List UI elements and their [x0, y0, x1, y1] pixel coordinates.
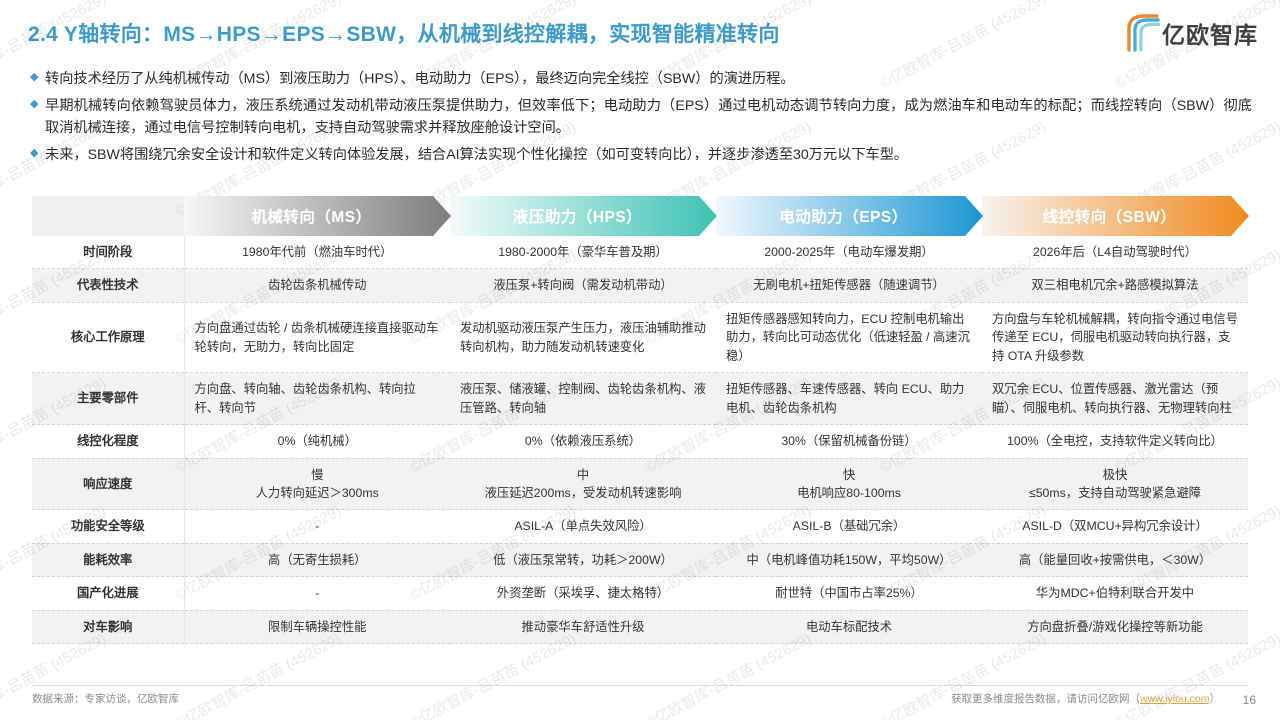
logo-mark-icon: [1126, 14, 1160, 52]
table-cell-line: 慢: [195, 466, 441, 484]
table-cell: ASIL-A（单点失效风险）: [450, 510, 716, 543]
table-row: 线控化程度0%（纯机械）0%（依赖液压系统）30%（保留机械备份链）100%（全…: [32, 425, 1248, 458]
table-row: 时间阶段1980年代前（燃油车时代）1980-2000年（豪华车普及期）2000…: [32, 236, 1248, 269]
table-cell: 快电机响应80-100ms: [716, 458, 982, 510]
table-cell: 高（能量回收+按需供电，＜30W）: [982, 543, 1248, 576]
table-header-label: 机械转向（MS）: [251, 205, 383, 227]
table-row: 对车影响限制车辆操控性能推动豪华车舒适性升级电动车标配技术方向盘折叠/游戏化操控…: [32, 610, 1248, 643]
table-cell: 1980-2000年（豪华车普及期）: [450, 236, 716, 269]
comparison-table: 机械转向（MS）液压助力（HPS）电动助力（EPS）线控转向（SBW） 时间阶段…: [32, 196, 1248, 644]
footer-cta: 获取更多维度报告数据，请访问亿欧网（www.iyiou.com）: [951, 691, 1220, 706]
table-cell: 2026年后（L4自动驾驶时代）: [982, 236, 1248, 269]
list-item: ◆ 未来，SBW将围绕冗余安全设计和软件定义转向体验发展，结合AI算法实现个性化…: [30, 144, 1252, 166]
table-cell: 外资垄断（采埃孚、捷太格特）: [450, 577, 716, 610]
table-row: 响应速度慢人力转向延迟＞300ms中液压延迟200ms，受发动机转速影响快电机响…: [32, 458, 1248, 510]
table-cell-line: 电机响应80-100ms: [726, 484, 972, 502]
page-number: 16: [1243, 693, 1256, 707]
table-cell-line: 极快: [992, 466, 1238, 484]
table-cell-line: 中: [460, 466, 706, 484]
diamond-bullet-icon: ◆: [30, 99, 45, 110]
table-cell: 齿轮齿条机械传动: [184, 269, 450, 302]
table-cell: 扭矩传感器感知转向力，ECU 控制电机输出助力，转向比可动态优化（低速轻盈 / …: [716, 302, 982, 372]
diamond-bullet-icon: ◆: [30, 72, 45, 83]
table-header-label: 液压助力（HPS）: [513, 205, 654, 227]
table-cell: 0%（纯机械）: [184, 425, 450, 458]
row-label: 对车影响: [32, 610, 184, 643]
table-header-chevrons: 机械转向（MS）液压助力（HPS）电动助力（EPS）线控转向（SBW）: [32, 196, 1248, 236]
row-label: 代表性技术: [32, 269, 184, 302]
table-cell: 电动车标配技术: [716, 610, 982, 643]
bullet-text: 未来，SBW将围绕冗余安全设计和软件定义转向体验发展，结合AI算法实现个性化操控…: [45, 144, 1252, 166]
table-row: 核心工作原理方向盘通过齿轮 / 齿条机械硬连接直接驱动车轮转向，无助力，转向比固…: [32, 302, 1248, 372]
footer-cta-prefix: 获取更多维度报告数据，请访问亿欧网（: [951, 693, 1140, 705]
header-spacer-cell: [32, 196, 184, 236]
table-cell: 双三相电机冗余+路感模拟算法: [982, 269, 1248, 302]
table-cell: -: [184, 577, 450, 610]
table-cell: 方向盘、转向轴、齿轮齿条机构、转向拉杆、转向节: [184, 373, 450, 425]
bullet-list: ◆ 转向技术经历了从纯机械传动（MS）到液压助力（HPS）、电动助力（EPS），…: [30, 68, 1252, 171]
footer-website-link[interactable]: www.iyiou.com: [1140, 693, 1209, 705]
table-header-chevron: 电动助力（EPS）: [716, 196, 983, 236]
row-label: 主要零部件: [32, 373, 184, 425]
table-cell: 方向盘折叠/游戏化操控等新功能: [982, 610, 1248, 643]
table-cell: 推动豪华车舒适性升级: [450, 610, 716, 643]
table-cell: 方向盘通过齿轮 / 齿条机械硬连接直接驱动车轮转向，无助力，转向比固定: [184, 302, 450, 372]
table-header-label: 电动助力（EPS）: [779, 205, 920, 227]
list-item: ◆ 转向技术经历了从纯机械传动（MS）到液压助力（HPS）、电动助力（EPS），…: [30, 68, 1252, 90]
table-cell-line: 人力转向延迟＞300ms: [195, 484, 441, 502]
row-label: 时间阶段: [32, 236, 184, 269]
table-row: 主要零部件方向盘、转向轴、齿轮齿条机构、转向拉杆、转向节液压泵、储液罐、控制阀、…: [32, 373, 1248, 425]
list-item: ◆ 早期机械转向依赖驾驶员体力，液压系统通过发动机带动液压泵提供助力，但效率低下…: [30, 95, 1252, 139]
table-cell: 低（液压泵常转，功耗＞200W）: [450, 543, 716, 576]
table-cell: 中液压延迟200ms，受发动机转速影响: [450, 458, 716, 510]
table-row: 能耗效率高（无寄生损耗）低（液压泵常转，功耗＞200W）中（电机峰值功耗150W…: [32, 543, 1248, 576]
table-cell: 双冗余 ECU、位置传感器、激光雷达（预瞄）、伺服电机、转向执行器、无物理转向柱: [982, 373, 1248, 425]
table-cell: 华为MDC+伯特利联合开发中: [982, 577, 1248, 610]
row-label: 国产化进展: [32, 577, 184, 610]
table-cell: 0%（依赖液压系统）: [450, 425, 716, 458]
table-cell: 液压泵+转向阀（需发动机带动）: [450, 269, 716, 302]
table-cell: -: [184, 510, 450, 543]
table-cell: 耐世特（中国市占率25%）: [716, 577, 982, 610]
row-label: 能耗效率: [32, 543, 184, 576]
slide-root: 2.4 Y轴转向：MS→HPS→EPS→SBW，从机械到线控解耦，实现智能精准转…: [0, 0, 1280, 720]
footer-source: 数据来源：专家访谈，亿欧智库: [32, 691, 179, 706]
table-header-chevron: 液压助力（HPS）: [450, 196, 717, 236]
table-row: 国产化进展-外资垄断（采埃孚、捷太格特）耐世特（中国市占率25%）华为MDC+伯…: [32, 577, 1248, 610]
table-cell-line: 液压延迟200ms，受发动机转速影响: [460, 484, 706, 502]
table-header-chevron: 机械转向（MS）: [184, 196, 451, 236]
table-cell: 100%（全电控，支持软件定义转向比）: [982, 425, 1248, 458]
row-label: 线控化程度: [32, 425, 184, 458]
table-cell: 慢人力转向延迟＞300ms: [184, 458, 450, 510]
brand-logo: 亿欧智库: [1126, 14, 1258, 52]
bullet-text: 转向技术经历了从纯机械传动（MS）到液压助力（HPS）、电动助力（EPS），最终…: [45, 68, 1252, 90]
table-cell: 中（电机峰值功耗150W，平均50W）: [716, 543, 982, 576]
footer-divider: [32, 685, 1248, 686]
table-cell: 30%（保留机械备份链）: [716, 425, 982, 458]
table-header-chevron: 线控转向（SBW）: [982, 196, 1249, 236]
table-cell: 高（无寄生损耗）: [184, 543, 450, 576]
table-cell: ASIL-D（双MCU+异构冗余设计）: [982, 510, 1248, 543]
row-label: 响应速度: [32, 458, 184, 510]
table-cell: 限制车辆操控性能: [184, 610, 450, 643]
bullet-text: 早期机械转向依赖驾驶员体力，液压系统通过发动机带动液压泵提供助力，但效率低下；电…: [45, 95, 1252, 139]
table-cell: 1980年代前（燃油车时代）: [184, 236, 450, 269]
table-cell: 无刷电机+扭矩传感器（随速调节）: [716, 269, 982, 302]
row-label: 功能安全等级: [32, 510, 184, 543]
table-row: 功能安全等级-ASIL-A（单点失效风险）ASIL-B（基础冗余）ASIL-D（…: [32, 510, 1248, 543]
table-cell-line: ≤50ms，支持自动驾驶紧急避障: [992, 484, 1238, 502]
table-cell-line: 快: [726, 466, 972, 484]
diamond-bullet-icon: ◆: [30, 148, 45, 159]
table-cell: ASIL-B（基础冗余）: [716, 510, 982, 543]
row-label: 核心工作原理: [32, 302, 184, 372]
table-cell: 发动机驱动液压泵产生压力，液压油辅助推动转向机构，助力随发动机转速变化: [450, 302, 716, 372]
table-cell: 扭矩传感器、车速传感器、转向 ECU、助力电机、齿轮齿条机构: [716, 373, 982, 425]
table-cell: 2000-2025年（电动车爆发期）: [716, 236, 982, 269]
table-cell: 极快≤50ms，支持自动驾驶紧急避障: [982, 458, 1248, 510]
table-header-label: 线控转向（SBW）: [1043, 205, 1189, 227]
table-cell: 方向盘与车轮机械解耦，转向指令通过电信号传递至 ECU，伺服电机驱动转向执行器，…: [982, 302, 1248, 372]
page-title: 2.4 Y轴转向：MS→HPS→EPS→SBW，从机械到线控解耦，实现智能精准转…: [28, 18, 780, 48]
table-row: 代表性技术齿轮齿条机械传动液压泵+转向阀（需发动机带动）无刷电机+扭矩传感器（随…: [32, 269, 1248, 302]
table-body: 时间阶段1980年代前（燃油车时代）1980-2000年（豪华车普及期）2000…: [32, 236, 1248, 644]
logo-text: 亿欧智库: [1162, 16, 1258, 50]
table-cell: 液压泵、储液罐、控制阀、齿轮齿条机构、液压管路、转向轴: [450, 373, 716, 425]
footer-cta-suffix: ）: [1210, 693, 1221, 705]
